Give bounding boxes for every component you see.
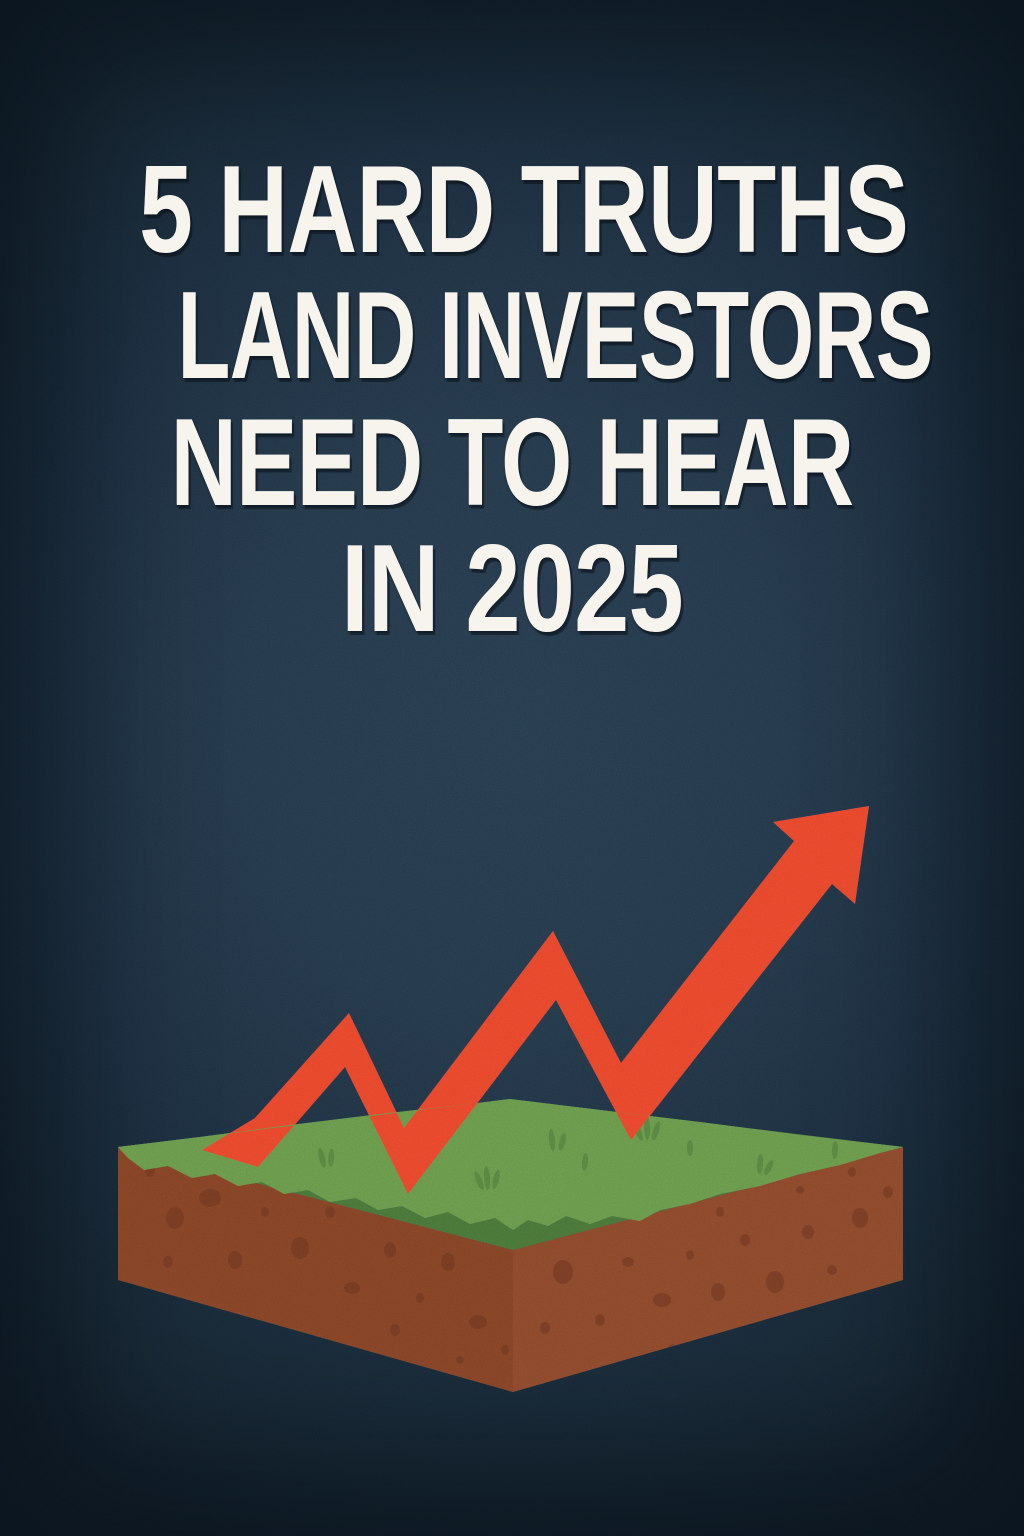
page-title: 5 HARD TRUTHS LAND INVESTORS NEED TO HEA…: [0, 150, 1024, 649]
headline-line-1: 5 HARD TRUTHS: [139, 150, 885, 270]
headline-line-2: LAND INVESTORS: [177, 276, 846, 396]
headline-line-4: IN 2025: [130, 529, 895, 649]
poster-root: 5 HARD TRUTHS LAND INVESTORS NEED TO HEA…: [0, 0, 1024, 1536]
headline-line-3: NEED TO HEAR: [158, 403, 865, 523]
